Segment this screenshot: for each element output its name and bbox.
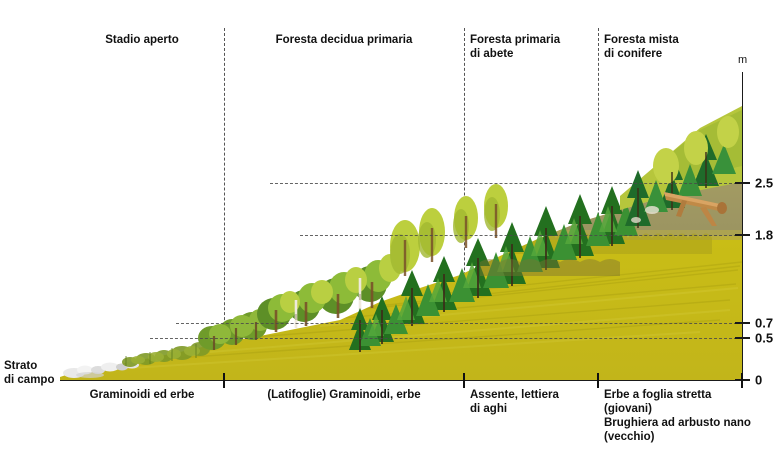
x-tick-1 (223, 373, 225, 388)
ground-label-foresta-primaria-di-abete: Assente, lettiera di aghi (470, 388, 600, 416)
y-tick-label-1-8: 1.8 (755, 228, 773, 243)
y-tick-label-2-5: 2.5 (755, 176, 773, 191)
y-tick-1-8 (735, 234, 750, 236)
stage-title-foresta-mista-di-conifere: Foresta mista di conifere (604, 34, 744, 61)
y-tick-label-0-5: 0.5 (755, 331, 773, 346)
ground-label-foresta-mista-di-conifere: Erbe a foglia stretta (giovani) Brughier… (604, 388, 776, 444)
gridline-0-7 (176, 323, 742, 324)
y-tick-label-0: 0 (755, 373, 762, 388)
forest-succession-diagram: Stadio aperto Foresta decidua primaria F… (0, 0, 780, 475)
y-tick-0-5 (735, 337, 750, 339)
y-tick-0-7 (735, 322, 750, 324)
stage-title-stadio-aperto: Stadio aperto (60, 34, 224, 48)
gridline-0-5 (150, 338, 742, 339)
axis-unit-label: m (738, 54, 747, 66)
forest-profile-artwork (60, 70, 742, 380)
x-tick-4 (741, 373, 743, 388)
gridline-1-8 (300, 235, 742, 236)
ground-label-foresta-decidua-primaria: (Latifoglie) Graminoidi, erbe (224, 388, 464, 402)
y-axis-line (742, 72, 743, 380)
stage-title-foresta-primaria-di-abete: Foresta primaria di abete (470, 34, 600, 61)
x-tick-2 (463, 373, 465, 388)
y-tick-2-5 (735, 182, 750, 184)
stage-title-foresta-decidua-primaria: Foresta decidua primaria (224, 34, 464, 48)
x-tick-3 (597, 373, 599, 388)
vegetation-illustration (60, 70, 742, 380)
y-tick-label-0-7: 0.7 (755, 316, 773, 331)
gridline-2-5 (270, 183, 742, 184)
ground-label-stadio-aperto: Graminoidi ed erbe (60, 388, 224, 402)
field-layer-label: Strato di campo (4, 360, 54, 387)
x-axis-line (60, 380, 744, 381)
